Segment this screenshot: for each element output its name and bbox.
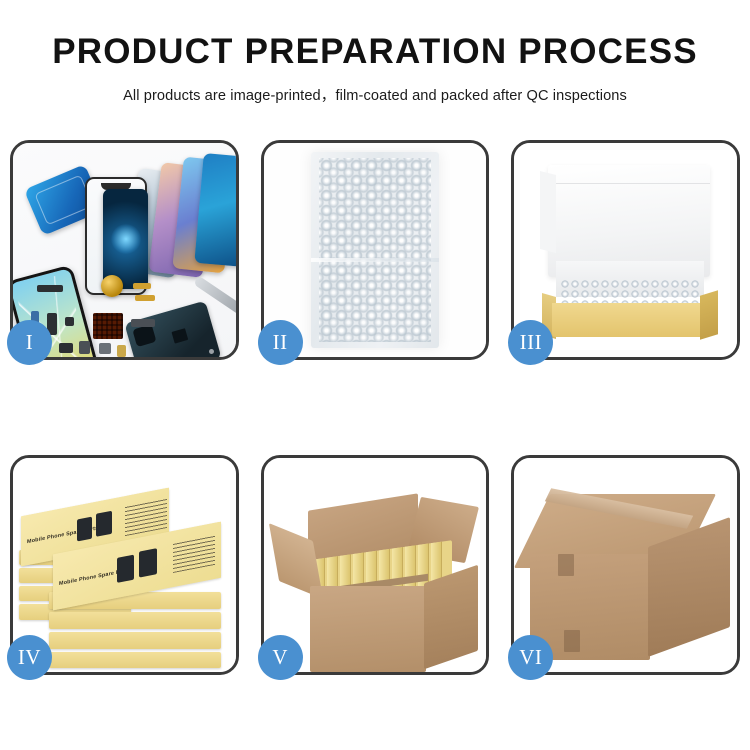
spare-part (59, 343, 73, 353)
spare-part (79, 341, 90, 354)
mailer-right-side (700, 290, 718, 340)
step-card-4[interactable]: Mobile Phone Spare Parts Mobile Phone Sp… (10, 455, 239, 675)
header: PRODUCT PREPARATION PROCESS All products… (0, 0, 750, 105)
step-card-6[interactable]: VI (511, 455, 740, 675)
step-image-sealed-carton (514, 458, 737, 672)
box-product-thumbnail (139, 548, 157, 577)
carton-front-panel (310, 586, 426, 672)
bubble-pattern (319, 158, 431, 342)
step-image-stacked-boxes: Mobile Phone Spare Parts Mobile Phone Sp… (13, 458, 236, 672)
carton-side-panel (424, 565, 478, 670)
spare-part (117, 345, 126, 357)
step-image-products (13, 143, 236, 357)
step-image-bubble-wrap (264, 143, 487, 357)
phone-back-panel (124, 301, 221, 357)
stacked-box (49, 652, 221, 668)
wrap-seam (311, 258, 439, 262)
mailer-front-panel (552, 303, 708, 337)
step-image-open-carton (264, 458, 487, 672)
spare-part (65, 317, 74, 326)
page-subtitle: All products are image-printed，film-coat… (0, 84, 750, 105)
spare-part (37, 285, 63, 292)
step-badge-4: IV (7, 635, 52, 680)
stacked-box (49, 612, 221, 629)
phone-display-dark (103, 189, 148, 289)
step-badge-3: III (508, 320, 553, 365)
step-badge-2: II (258, 320, 303, 365)
chip-grid-part (93, 313, 123, 339)
step-card-2[interactable]: II (261, 140, 490, 360)
step-image-mailer-box (514, 143, 737, 357)
step-badge-5: V (258, 635, 303, 680)
box-product-thumbnail (117, 555, 134, 583)
spare-part (135, 295, 155, 301)
box-stack: Mobile Phone Spare Parts Mobile Phone Sp… (19, 480, 236, 658)
spare-part (133, 283, 151, 289)
stacked-box (49, 632, 221, 649)
spare-part (99, 343, 111, 354)
infographic-page: PRODUCT PREPARATION PROCESS All products… (0, 0, 750, 750)
bubble-wrap-sheet (311, 152, 439, 348)
step-card-1[interactable]: I (10, 140, 239, 360)
step-card-5[interactable]: V (261, 455, 490, 675)
screw-part (209, 349, 214, 354)
step-badge-1: I (7, 320, 52, 365)
box-product-thumbnail (77, 517, 92, 542)
page-title: PRODUCT PREPARATION PROCESS (0, 34, 750, 71)
box-product-thumbnail (96, 511, 112, 537)
step-badge-6: VI (508, 635, 553, 680)
copper-coil-part (101, 275, 123, 297)
carton-handle-tab (564, 630, 580, 652)
carton-handle-tab (558, 554, 574, 576)
step-card-3[interactable]: III (511, 140, 740, 360)
process-step-grid: I II III (10, 140, 740, 675)
spare-part (131, 319, 155, 327)
